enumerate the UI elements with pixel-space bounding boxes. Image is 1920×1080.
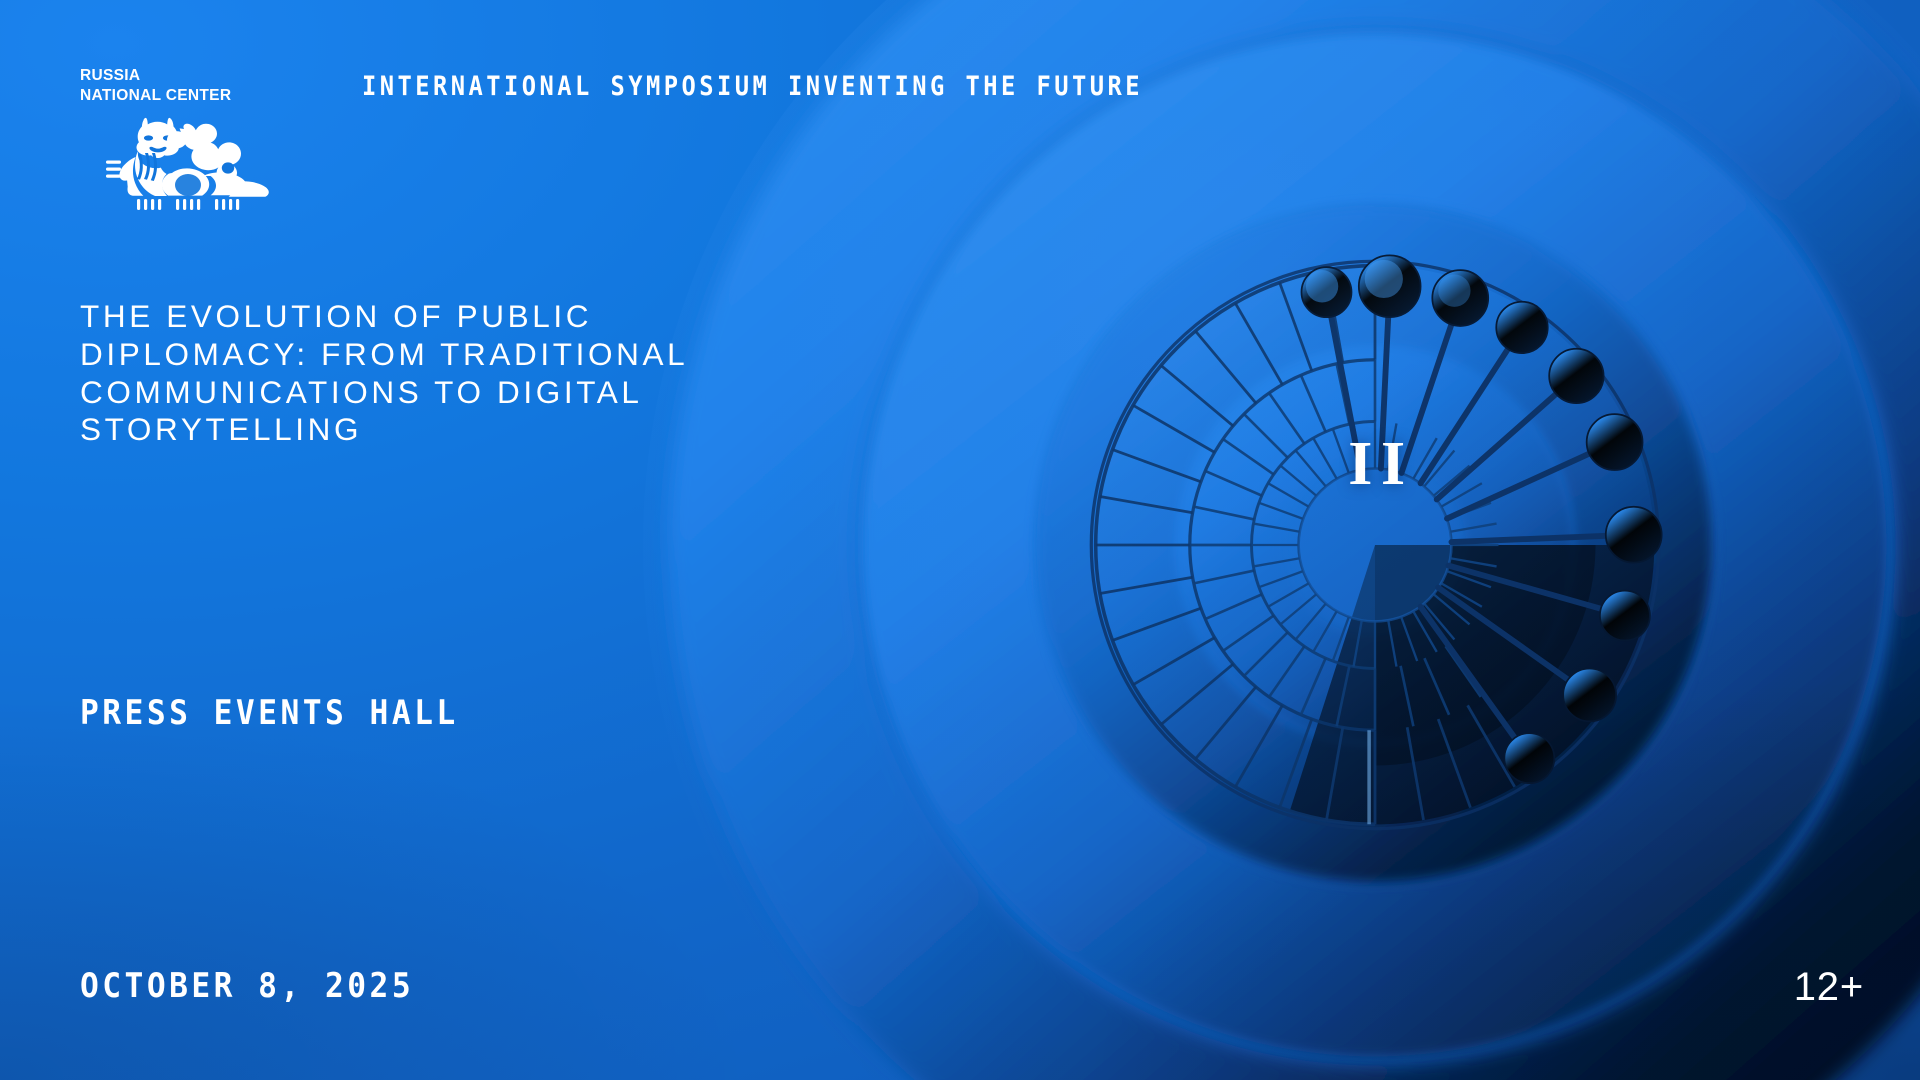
poster-canvas: RUSSIA NATIONAL CENTER [0,0,1920,1080]
logo[interactable]: RUSSIA NATIONAL CENTER [80,66,310,213]
event-date: OCTOBER 8, 2025 [80,966,414,1006]
page-title: THE EVOLUTION OF PUBLIC DIPLOMACY: FROM … [80,298,720,449]
concentric-spiral-staircase-tunnel-graphic [640,0,1920,1080]
symposium-kicker: INTERNATIONAL SYMPOSIUM INVENTING THE FU… [362,71,1143,102]
reclining-tiger-emblem-icon [80,113,276,213]
logo-wordmark: RUSSIA NATIONAL CENTER [80,66,310,107]
venue-label: PRESS EVENTS HALL [80,693,459,733]
age-rating-badge: 12+ [1794,965,1864,1010]
